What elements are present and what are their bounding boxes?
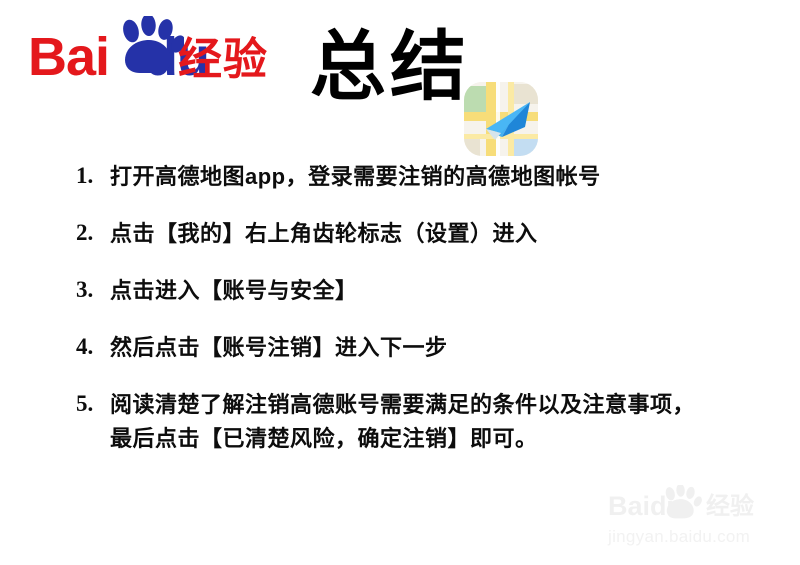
amap-icon-artwork [464,82,538,156]
list-item-text: 打开高德地图app，登录需要注销的高德地图帐号 [110,160,601,194]
list-item: 1. 打开高德地图app，登录需要注销的高德地图帐号 [76,160,776,194]
list-item-text: 点击【我的】右上角齿轮标志（设置）进入 [110,217,538,251]
list-item-line: 点击进入【账号与安全】 [110,278,358,303]
list-item-line: 打开高德地图app，登录需要注销的高德地图帐号 [110,164,601,189]
watermark-cn-text: 经验 [706,495,754,519]
watermark-logo-row: Baidu 经验 [606,493,786,527]
list-item-number: 2. [76,217,110,248]
list-item-number: 1. [76,160,110,191]
baidu-jingyan-watermark: Baidu 经验 jingyan.baidu.com [606,493,786,555]
jingyan-logo-text: 经验 [178,38,268,82]
list-item: 5. 阅读清楚了解注销高德账号需要满足的条件以及注意事项， 最后点击【已清楚风险… [76,388,776,456]
paw-print-icon [662,485,702,519]
list-item-number: 5. [76,388,110,419]
baidu-jingyan-logo: Baidu 经验 [28,16,268,94]
list-item-text: 然后点击【账号注销】进入下一步 [110,331,448,365]
list-item-text: 点击进入【账号与安全】 [110,274,358,308]
list-item-line: 最后点击【已清楚风险，确定注销】即可。 [110,422,695,456]
list-item: 2. 点击【我的】右上角齿轮标志（设置）进入 [76,217,776,251]
list-item-number: 4. [76,331,110,362]
summary-steps-list: 1. 打开高德地图app，登录需要注销的高德地图帐号 2. 点击【我的】右上角齿… [76,160,776,480]
list-item-text: 阅读清楚了解注销高德账号需要满足的条件以及注意事项， 最后点击【已清楚风险，确定… [110,388,695,456]
list-item: 4. 然后点击【账号注销】进入下一步 [76,331,776,365]
list-item-number: 3. [76,274,110,305]
list-item-line: 然后点击【账号注销】进入下一步 [110,335,448,360]
paw-print-icon [118,16,184,74]
list-item: 3. 点击进入【账号与安全】 [76,274,776,308]
baidu-wordmark-bai: Bai [28,27,109,87]
page-title: 总结 [310,26,470,110]
watermark-url: jingyan.baidu.com [608,527,750,547]
list-item-line: 阅读清楚了解注销高德账号需要满足的条件以及注意事项， [110,392,695,417]
list-item-line: 点击【我的】右上角齿轮标志（设置）进入 [110,221,538,246]
amap-app-icon [464,82,538,156]
